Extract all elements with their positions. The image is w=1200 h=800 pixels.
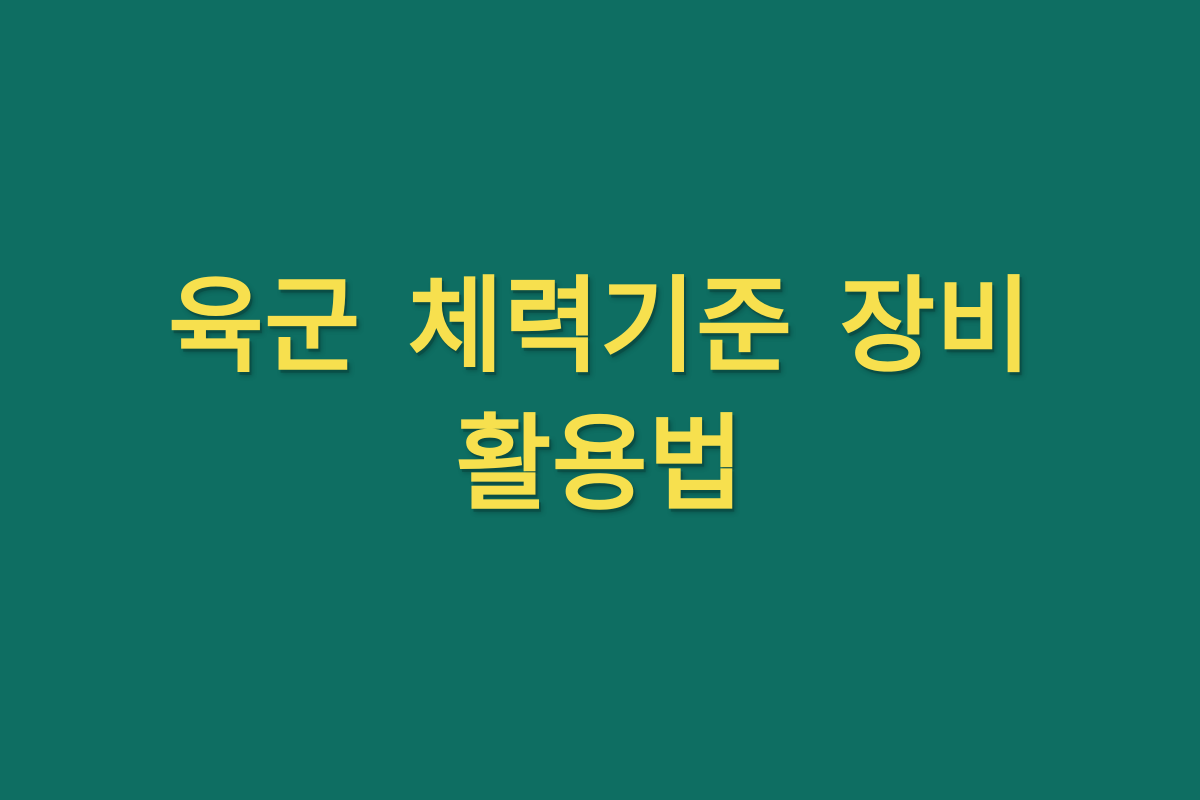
- title-banner: 육군 체력기준 장비 활용법: [0, 0, 1200, 800]
- page-title: 육군 체력기준 장비 활용법: [120, 257, 1080, 534]
- title-block: 육군 체력기준 장비 활용법: [120, 257, 1080, 534]
